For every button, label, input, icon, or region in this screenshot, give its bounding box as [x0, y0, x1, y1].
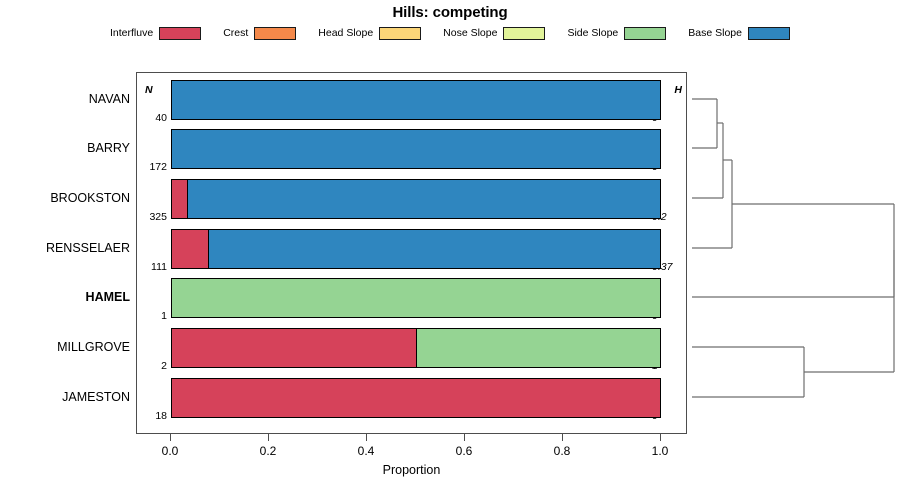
- x-axis-tick-label: 0.0: [150, 444, 190, 458]
- x-axis-tick-label: 0.2: [248, 444, 288, 458]
- legend-item[interactable]: Crest: [223, 27, 296, 40]
- legend: InterfluveCrestHead SlopeNose SlopeSide …: [0, 24, 900, 42]
- legend-color-swatch: [503, 27, 545, 40]
- plot-panel: N H 40017203250.21110.371021180: [136, 72, 687, 434]
- bar-segment[interactable]: [172, 180, 187, 218]
- x-axis-title: Proportion: [136, 463, 687, 477]
- x-axis-tick: [268, 434, 269, 441]
- n-value: 2: [137, 360, 167, 372]
- row-label-rensselaer: RENSSELAER: [0, 242, 130, 255]
- bar-segment[interactable]: [172, 329, 416, 367]
- row-label-hamel: HAMEL: [0, 291, 130, 304]
- n-value: 40: [137, 112, 167, 124]
- n-column-header: N: [145, 84, 153, 96]
- n-value: 172: [137, 161, 167, 173]
- n-value: 325: [137, 211, 167, 223]
- chart-root: Hills: competing InterfluveCrestHead Slo…: [0, 0, 900, 500]
- row-label-jameston: JAMESTON: [0, 391, 130, 404]
- page-title: Hills: competing: [0, 4, 900, 21]
- row-label-barry: BARRY: [0, 142, 130, 155]
- legend-item[interactable]: Interfluve: [110, 27, 201, 40]
- row-label-millgrove: MILLGROVE: [0, 341, 130, 354]
- n-value: 18: [137, 410, 167, 422]
- x-axis-tick-label: 0.6: [444, 444, 484, 458]
- legend-item[interactable]: Head Slope: [318, 27, 421, 40]
- x-axis-tick: [660, 434, 661, 441]
- legend-item[interactable]: Nose Slope: [443, 27, 545, 40]
- legend-item-label: Base Slope: [688, 27, 742, 39]
- stacked-bar-navan[interactable]: [171, 80, 661, 120]
- legend-item-label: Nose Slope: [443, 27, 497, 39]
- x-axis-tick: [562, 434, 563, 441]
- h-column-header: H: [674, 84, 682, 96]
- bar-segment[interactable]: [416, 329, 660, 367]
- x-axis-tick-label: 1.0: [640, 444, 680, 458]
- x-axis-tick: [366, 434, 367, 441]
- stacked-bar-millgrove[interactable]: [171, 328, 661, 368]
- legend-item[interactable]: Base Slope: [688, 27, 790, 40]
- legend-color-swatch: [624, 27, 666, 40]
- legend-color-swatch: [254, 27, 296, 40]
- bar-segment[interactable]: [172, 130, 660, 168]
- n-value: 1: [137, 310, 167, 322]
- legend-item[interactable]: Side Slope: [567, 27, 666, 40]
- legend-color-swatch: [748, 27, 790, 40]
- legend-item-label: Crest: [223, 27, 248, 39]
- legend-color-swatch: [159, 27, 201, 40]
- row-label-navan: NAVAN: [0, 93, 130, 106]
- legend-item-label: Side Slope: [567, 27, 618, 39]
- x-axis-tick: [464, 434, 465, 441]
- bar-segment[interactable]: [172, 230, 208, 268]
- bar-segment[interactable]: [172, 279, 660, 317]
- stacked-bar-barry[interactable]: [171, 129, 661, 169]
- x-axis-tick-label: 0.4: [346, 444, 386, 458]
- legend-item-label: Head Slope: [318, 27, 373, 39]
- dendrogram: [690, 72, 900, 434]
- stacked-bar-jameston[interactable]: [171, 378, 661, 418]
- legend-color-swatch: [379, 27, 421, 40]
- dendrogram-svg: [690, 72, 900, 434]
- n-value: 111: [137, 261, 167, 273]
- bar-segment[interactable]: [208, 230, 660, 268]
- stacked-bar-brookston[interactable]: [171, 179, 661, 219]
- bar-segment[interactable]: [172, 379, 660, 417]
- bar-segment[interactable]: [172, 81, 660, 119]
- bar-segment[interactable]: [187, 180, 660, 218]
- stacked-bar-rensselaer[interactable]: [171, 229, 661, 269]
- legend-item-label: Interfluve: [110, 27, 153, 39]
- x-axis-tick: [170, 434, 171, 441]
- x-axis-tick-label: 0.8: [542, 444, 582, 458]
- row-label-brookston: BROOKSTON: [0, 192, 130, 205]
- stacked-bar-hamel[interactable]: [171, 278, 661, 318]
